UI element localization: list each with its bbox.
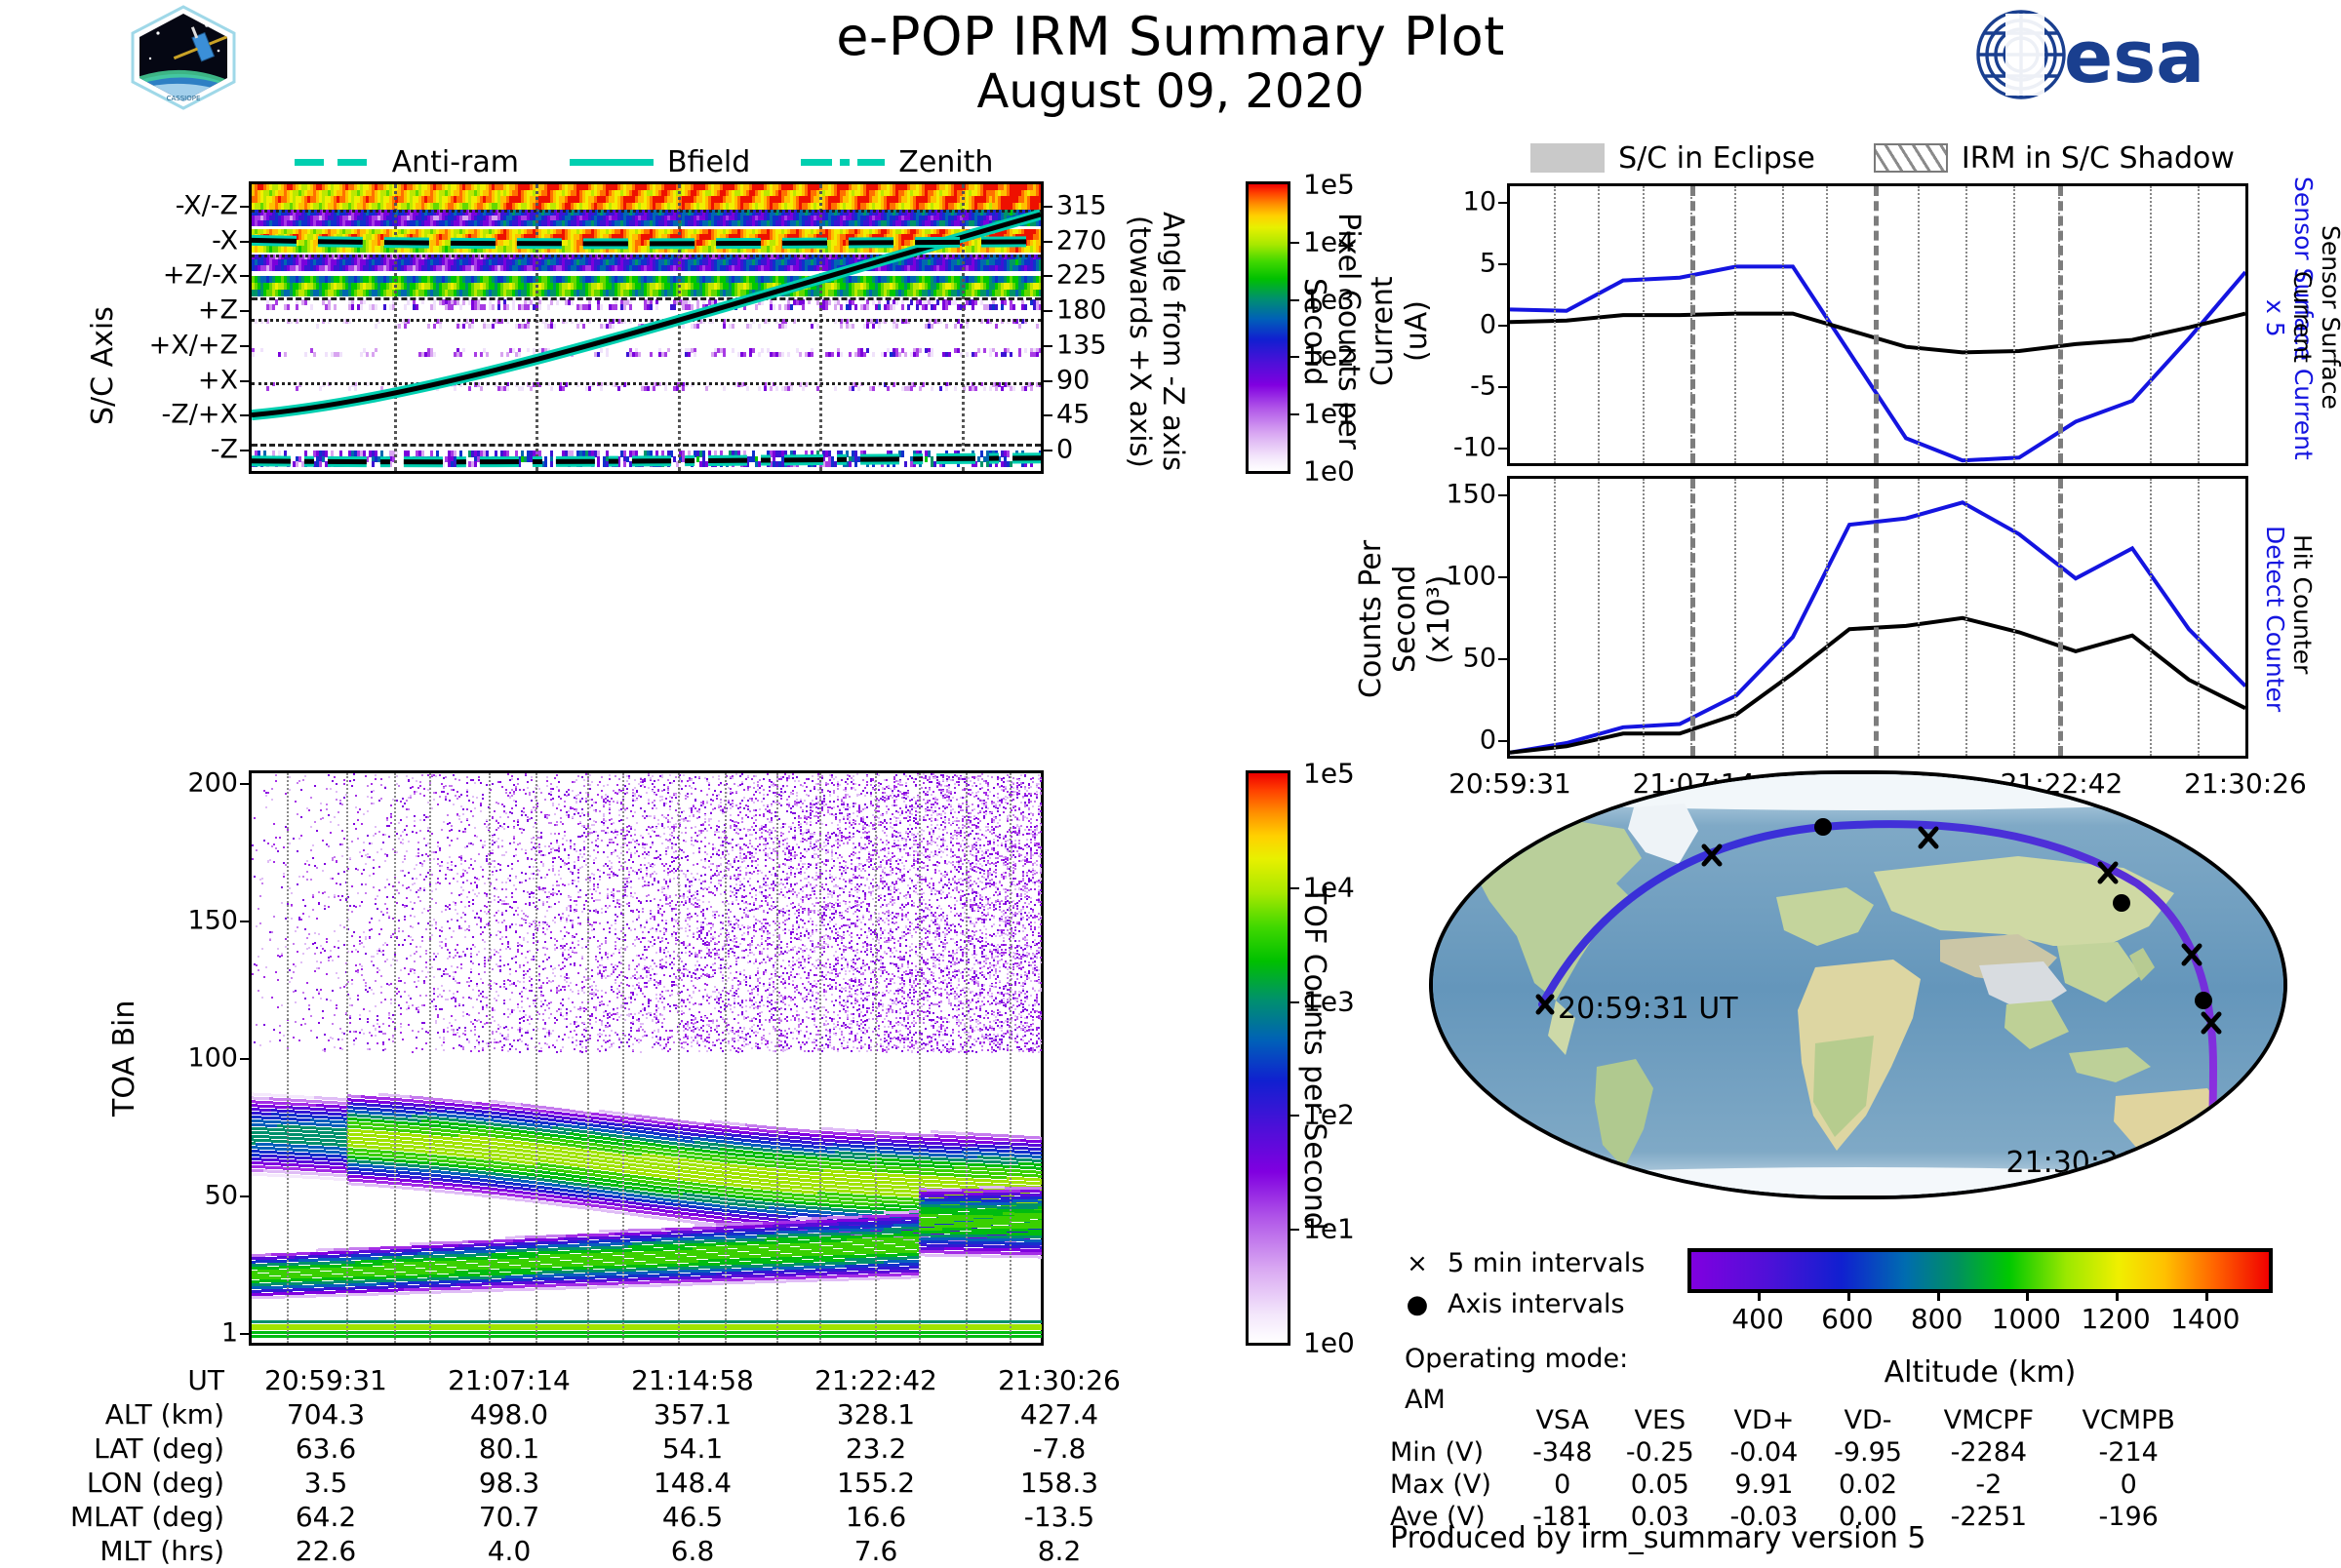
table-cell: 704.3 <box>234 1397 417 1431</box>
colorbar-tick-mark <box>2205 1289 2208 1301</box>
counts-right-label-black: Hit Counter <box>2288 507 2317 702</box>
eclipse-legend: S/C in Eclipse IRM in S/C Shadow <box>1492 138 2273 177</box>
y-tick-mark <box>1041 241 1052 243</box>
toa-bin-spectrogram: 200150100501 <box>249 770 1044 1346</box>
gridline <box>966 773 968 1343</box>
page-subtitle: August 09, 2020 <box>585 64 1756 119</box>
legend-label: Zenith <box>898 145 993 179</box>
y-tick-label: +X/+Z <box>149 330 252 360</box>
gridline <box>1643 186 1645 463</box>
table-cell: 70.7 <box>417 1500 601 1534</box>
table-cell: 8.2 <box>968 1534 1151 1568</box>
toa-bin-ylabel: TOA Bin <box>107 985 141 1131</box>
gridline <box>1554 186 1556 463</box>
gridline <box>1643 479 1645 756</box>
colorbar-tick-label: 1e0 <box>1288 455 1355 488</box>
row-header: LON (deg) <box>39 1466 234 1500</box>
column-header: VD- <box>1816 1404 1921 1436</box>
table-cell: -0.25 <box>1608 1436 1713 1469</box>
table-cell: 20:59:31 <box>234 1363 417 1397</box>
gridline <box>346 773 348 1343</box>
cassiope-logo-icon: CASSIOPE <box>125 4 242 111</box>
table-cell: -348 <box>1517 1436 1608 1469</box>
gridline <box>2013 186 2015 463</box>
dashdot-line-icon <box>801 159 885 166</box>
table-cell: -214 <box>2057 1436 2200 1469</box>
gridline <box>678 773 680 1343</box>
table-cell: -0.04 <box>1712 1436 1816 1469</box>
table-cell: 21:30:26 <box>968 1363 1151 1397</box>
table-cell: 0 <box>2057 1469 2200 1501</box>
table-row: Min (V)-348-0.25-0.04-9.95-2284-214 <box>1390 1436 2200 1469</box>
legend-item-sc-eclipse: S/C in Eclipse <box>1530 141 1815 176</box>
column-header: VMCPF <box>1920 1404 2057 1436</box>
table-row: Max (V)00.059.910.02-20 <box>1390 1469 2200 1501</box>
map-legend: × 5 min intervals ● Axis intervals Opera… <box>1405 1243 1668 1420</box>
legend-item-anti-ram: Anti-ram <box>295 145 519 179</box>
table-cell: 158.3 <box>968 1466 1151 1500</box>
page-title: e-POP IRM Summary Plot <box>585 6 1756 67</box>
y-tick-mark <box>240 1333 252 1335</box>
colorbar-tick-mark <box>1847 1289 1850 1301</box>
table-row: UT20:59:3121:07:1421:14:5821:22:4221:30:… <box>39 1363 1151 1397</box>
y-tick-mark <box>1498 576 1510 578</box>
gridline <box>1734 186 1736 463</box>
counts-right-label-blue: Detect Counter <box>2261 507 2289 731</box>
interval-gridline <box>1690 186 1695 463</box>
y-tick-mark <box>240 206 252 208</box>
y-tick-label: -Z/+X <box>162 400 252 430</box>
table-cell: 498.0 <box>417 1397 601 1431</box>
voltage-statistics-table: VSAVESVD+VD-VMCPFVCMPB Min (V)-348-0.25-… <box>1390 1404 2200 1533</box>
solid-line-icon <box>570 159 654 166</box>
table-cell: 22.6 <box>234 1534 417 1568</box>
sensor-surface-current-plot: 1050-5-10 <box>1507 183 2248 466</box>
column-header: VCMPB <box>2057 1404 2200 1436</box>
esa-logo-icon: esa <box>1970 8 2282 101</box>
interval-gridline <box>1874 186 1879 463</box>
column-header: VSA <box>1517 1404 1608 1436</box>
gridline <box>1554 479 1556 756</box>
y-tick-mark <box>240 310 252 312</box>
colorbar-tick-label: 1e5 <box>1288 758 1355 790</box>
spectrogram-overlay-legend: Anti-ram Bfield Zenith <box>244 142 1044 181</box>
sc-axis-ylabel: S/C Axis <box>86 293 120 439</box>
interval-gridline <box>1690 479 1695 756</box>
legend-label: Bfield <box>667 145 750 179</box>
interval-gridline <box>1874 479 1879 756</box>
map-end-label: 21:30:26 UT <box>2005 1146 2186 1180</box>
colorbar-tick-mark <box>1758 1289 1761 1301</box>
overlay-curves <box>252 184 1041 471</box>
colorbar-tick-mark <box>1937 1289 1940 1301</box>
counts-per-second-plot: 15010050020:59:3121:07:1421:14:5821:22:4… <box>1507 476 2248 759</box>
legend-item-axis: ● Axis intervals <box>1405 1284 1668 1325</box>
table-cell: 0.05 <box>1608 1469 1713 1501</box>
gridline <box>1826 479 1828 756</box>
colorbar-tick-mark <box>2026 1289 2029 1301</box>
y-tick-mark <box>1498 494 1510 496</box>
gridline <box>587 773 589 1343</box>
legend-item-5min: × 5 min intervals <box>1405 1243 1668 1284</box>
ephemeris-table: UT20:59:3121:07:1421:14:5821:22:4221:30:… <box>39 1363 1151 1568</box>
legend-item-irm-shadow: IRM in S/C Shadow <box>1874 141 2235 176</box>
current-ylabel: Current (uA) <box>1366 244 1434 419</box>
gridline <box>875 773 877 1343</box>
colorbar-tick-mark <box>2116 1289 2119 1301</box>
gridline <box>1734 479 1736 756</box>
table-row: LON (deg)3.598.3148.4155.2158.3 <box>39 1466 1151 1500</box>
table-cell: -2284 <box>1920 1436 2057 1469</box>
altitude-colorbar-label: Altitude (km) <box>1834 1355 2126 1390</box>
y-tick-mark <box>240 241 252 243</box>
table-cell: 155.2 <box>784 1466 968 1500</box>
current-right-label-black: Sensor Surface Current <box>2288 176 2341 458</box>
table-cell: 427.4 <box>968 1397 1151 1431</box>
row-header: UT <box>39 1363 234 1397</box>
table-cell: 46.5 <box>601 1500 784 1534</box>
table-cell: 63.6 <box>234 1431 417 1466</box>
table-cell: -196 <box>2057 1501 2200 1533</box>
dashed-line-icon <box>295 159 378 166</box>
map-start-label: 20:59:31 UT <box>1558 992 1738 1026</box>
y-tick-mark <box>1498 263 1510 265</box>
table-cell: 4.0 <box>417 1534 601 1568</box>
gridline <box>1010 773 1012 1343</box>
row-header: ALT (km) <box>39 1397 234 1431</box>
gridline <box>2198 479 2200 756</box>
gridline <box>1965 186 1967 463</box>
table-row: MLAT (deg)64.270.746.516.6-13.5 <box>39 1500 1151 1534</box>
table-cell: -7.8 <box>968 1431 1151 1466</box>
pixel-counts-colorbar-label: Pixel Counts per Second <box>1297 205 1366 458</box>
y-tick-mark <box>240 1196 252 1197</box>
gridline <box>1782 479 1784 756</box>
produced-by-text: Produced by irm_summary version 5 <box>1390 1521 1925 1555</box>
y-tick-mark <box>240 921 252 922</box>
table-cell: -2 <box>1920 1469 2057 1501</box>
tof-counts-colorbar: 1e51e41e31e21e11e0 <box>1246 770 1290 1346</box>
column-header: VES <box>1608 1404 1713 1436</box>
y-tick-mark <box>1041 414 1052 416</box>
legend-label: Anti-ram <box>392 145 519 179</box>
gridline <box>1598 186 1600 463</box>
row-header: Min (V) <box>1390 1436 1517 1469</box>
table-row: MLT (hrs)22.64.06.87.68.2 <box>39 1534 1151 1568</box>
y-tick-mark <box>1498 202 1510 204</box>
y-tick-mark <box>240 414 252 416</box>
tof-counts-colorbar-label: TOF Counts per Second <box>1297 839 1331 1277</box>
world-map-graphic: 20:59:31 UT 21:30:26 UT <box>1433 774 2287 1199</box>
table-cell: 357.1 <box>601 1397 784 1431</box>
table-cell: 54.1 <box>601 1431 784 1466</box>
gridline <box>287 773 289 1343</box>
y-tick-mark <box>1041 345 1052 347</box>
gridline <box>1826 186 1828 463</box>
colorbar-tick-label: 1e5 <box>1288 169 1355 201</box>
table-cell: 98.3 <box>417 1466 601 1500</box>
table-cell: 7.6 <box>784 1534 968 1568</box>
legend-label: IRM in S/C Shadow <box>1962 141 2235 176</box>
y-tick-mark <box>1041 275 1052 277</box>
y-tick-mark <box>1498 448 1510 450</box>
y-tick-mark <box>240 275 252 277</box>
pixel-counts-colorbar: 1e51e41e31e21e11e0 <box>1246 181 1290 474</box>
y-tick-mark <box>240 783 252 785</box>
table-cell: 6.8 <box>601 1534 784 1568</box>
y-tick-mark <box>240 380 252 382</box>
table-cell: 16.6 <box>784 1500 968 1534</box>
gridline <box>536 773 537 1343</box>
y-tick-mark <box>1041 380 1052 382</box>
table-cell: 80.1 <box>417 1431 601 1466</box>
gridline <box>1782 186 1784 463</box>
legend-label: 5 min intervals <box>1448 1243 1645 1284</box>
gridline <box>2150 479 2152 756</box>
y-tick-mark <box>1041 450 1052 451</box>
sc-axis-right-ylabel: Angle from -Z axis (towards +X axis) <box>1124 195 1190 488</box>
legend-item-zenith: Zenith <box>801 145 993 179</box>
legend-label: Axis intervals <box>1448 1284 1625 1325</box>
gridline <box>429 773 431 1343</box>
table-cell: -9.95 <box>1816 1436 1921 1469</box>
table-cell: -13.5 <box>968 1500 1151 1534</box>
table-row: ALT (km)704.3498.0357.1328.1427.4 <box>39 1397 1151 1431</box>
counts-ylabel: Counts Per Second (x10³) <box>1354 517 1456 722</box>
table-row: LAT (deg)63.680.154.123.2-7.8 <box>39 1431 1151 1466</box>
row-header: MLT (hrs) <box>39 1534 234 1568</box>
table-cell: 21:22:42 <box>784 1363 968 1397</box>
gridline <box>819 773 821 1343</box>
y-tick-label: +Z/-X <box>163 260 252 291</box>
gridline <box>394 773 396 1343</box>
row-header: MLAT (deg) <box>39 1500 234 1534</box>
altitude-colorbar: 400600800100012001400 <box>1687 1248 2273 1293</box>
gridline <box>919 773 921 1343</box>
column-header: VD+ <box>1712 1404 1816 1436</box>
table-cell: 328.1 <box>784 1397 968 1431</box>
table-cell: 64.2 <box>234 1500 417 1534</box>
table-cell: 3.5 <box>234 1466 417 1500</box>
interval-gridline <box>2058 186 2063 463</box>
y-tick-mark <box>240 345 252 347</box>
table-cell: 9.91 <box>1712 1469 1816 1501</box>
gridline <box>1598 479 1600 756</box>
orbit-ground-track-map: 20:59:31 UT 21:30:26 UT <box>1429 770 2287 1199</box>
gridline <box>776 773 778 1343</box>
corner-cell <box>1390 1404 1517 1436</box>
grey-swatch-icon <box>1530 143 1605 173</box>
hatched-swatch-icon <box>1874 143 1948 173</box>
dot-marker-icon: ● <box>1405 1285 1430 1324</box>
y-tick-mark <box>1498 740 1510 742</box>
svg-text:CASSIOPE: CASSIOPE <box>167 95 201 102</box>
gridline <box>489 773 491 1343</box>
y-tick-mark <box>240 450 252 451</box>
y-tick-mark <box>1041 310 1052 312</box>
y-tick-mark <box>240 1058 252 1060</box>
y-tick-mark <box>1041 206 1052 208</box>
table-cell: 21:07:14 <box>417 1363 601 1397</box>
row-header: Max (V) <box>1390 1469 1517 1501</box>
gridline <box>622 773 624 1343</box>
interval-gridline <box>2058 479 2063 756</box>
table-cell: 0 <box>1517 1469 1608 1501</box>
table-cell: -2251 <box>1920 1501 2057 1533</box>
table-cell: 148.4 <box>601 1466 784 1500</box>
legend-label: S/C in Eclipse <box>1618 141 1815 176</box>
gridline <box>2150 186 2152 463</box>
table-cell: 0.02 <box>1816 1469 1921 1501</box>
row-header: LAT (deg) <box>39 1431 234 1466</box>
y-tick-mark <box>1498 658 1510 660</box>
colorbar-tick-label: 1e0 <box>1288 1327 1355 1359</box>
gridline <box>2198 186 2200 463</box>
y-tick-mark <box>1498 386 1510 388</box>
gridline <box>1918 186 1920 463</box>
legend-item-bfield: Bfield <box>570 145 750 179</box>
table-cell: 21:14:58 <box>601 1363 784 1397</box>
gridline <box>2013 479 2015 756</box>
sc-axis-spectrogram: -X/-Z-X+Z/-X+Z+X/+Z+X-Z/+X-Z315270225180… <box>249 181 1044 474</box>
gridline <box>725 773 727 1343</box>
gridline <box>1965 479 1967 756</box>
cross-marker-icon: × <box>1405 1244 1430 1283</box>
y-tick-mark <box>1498 325 1510 327</box>
gridline <box>1918 479 1920 756</box>
esa-wordmark: esa <box>2064 16 2204 99</box>
table-cell: 23.2 <box>784 1431 968 1466</box>
